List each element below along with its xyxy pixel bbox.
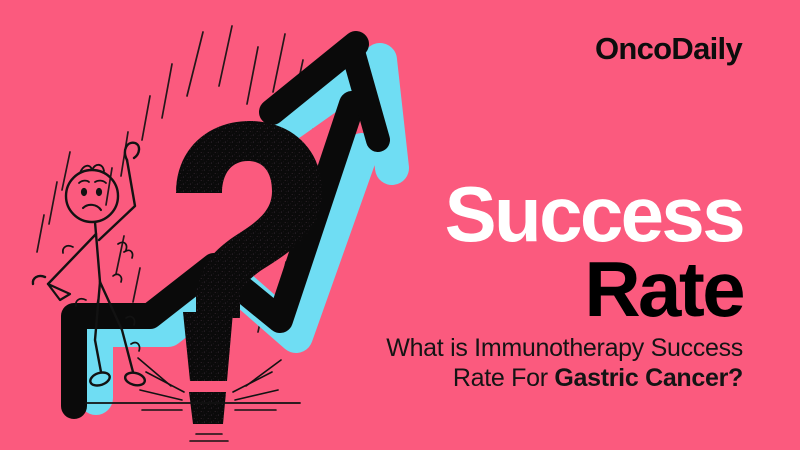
headline: Success Rate: [323, 178, 743, 327]
stick-figure-eye-right: [96, 188, 102, 196]
headline-line-success: Success: [323, 178, 743, 251]
stick-figure-eye-left: [81, 188, 87, 196]
subtitle-line-1: What is Immunotherapy Success: [313, 334, 743, 364]
headline-line-rate: Rate: [323, 253, 743, 326]
subtitle-line-2-regular: Rate For: [453, 364, 555, 392]
subtitle-line-2: Rate For Gastric Cancer?: [313, 364, 743, 394]
poster-canvas: OncoDaily Success Rate What is Immunothe…: [0, 0, 800, 450]
brand-logo: OncoDaily: [595, 33, 742, 64]
subtitle: What is Immunotherapy Success Rate For G…: [313, 334, 743, 393]
subtitle-line-2-emphasis: Gastric Cancer?: [554, 364, 743, 392]
